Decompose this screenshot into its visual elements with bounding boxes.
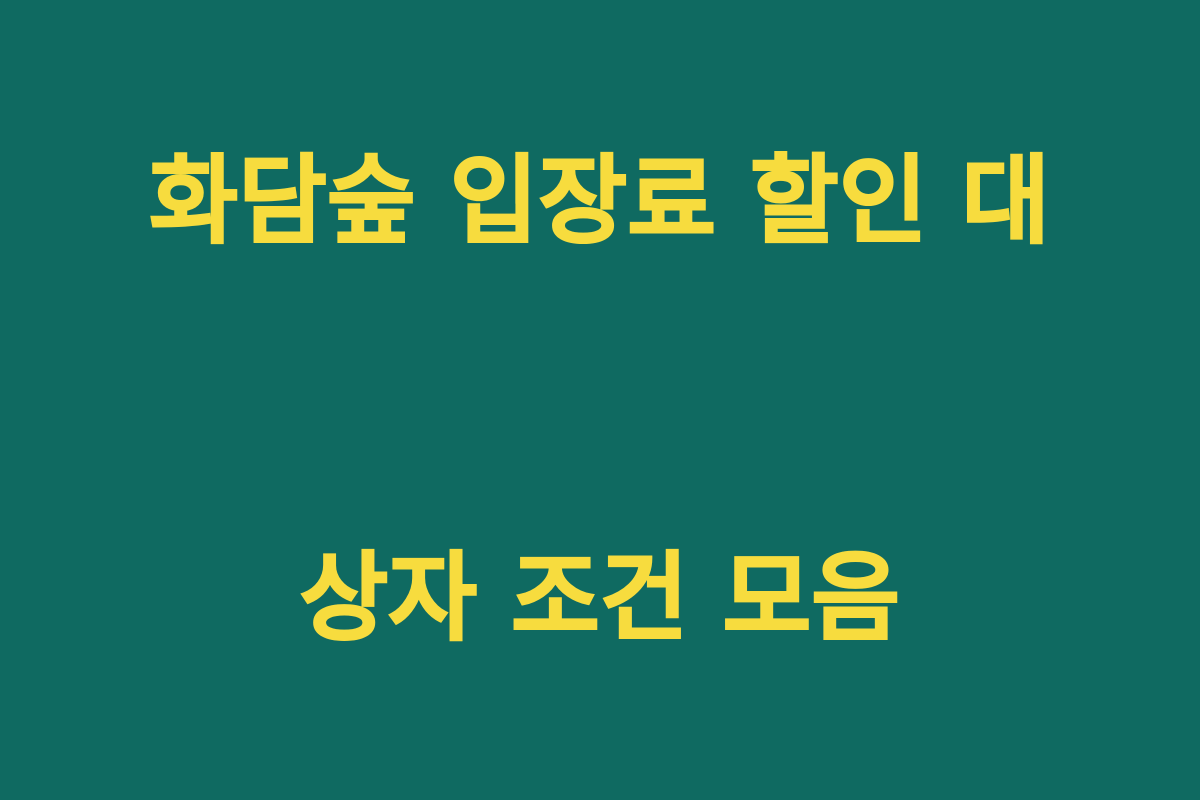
headline-line-2: 상자 조건 모음 [60, 532, 1140, 664]
banner-canvas: 화담숲 입장료 할인 대 상자 조건 모음 [0, 0, 1200, 800]
headline-line-1: 화담숲 입장료 할인 대 [60, 135, 1140, 267]
banner-headline: 화담숲 입장료 할인 대 상자 조건 모음 [0, 0, 1200, 800]
